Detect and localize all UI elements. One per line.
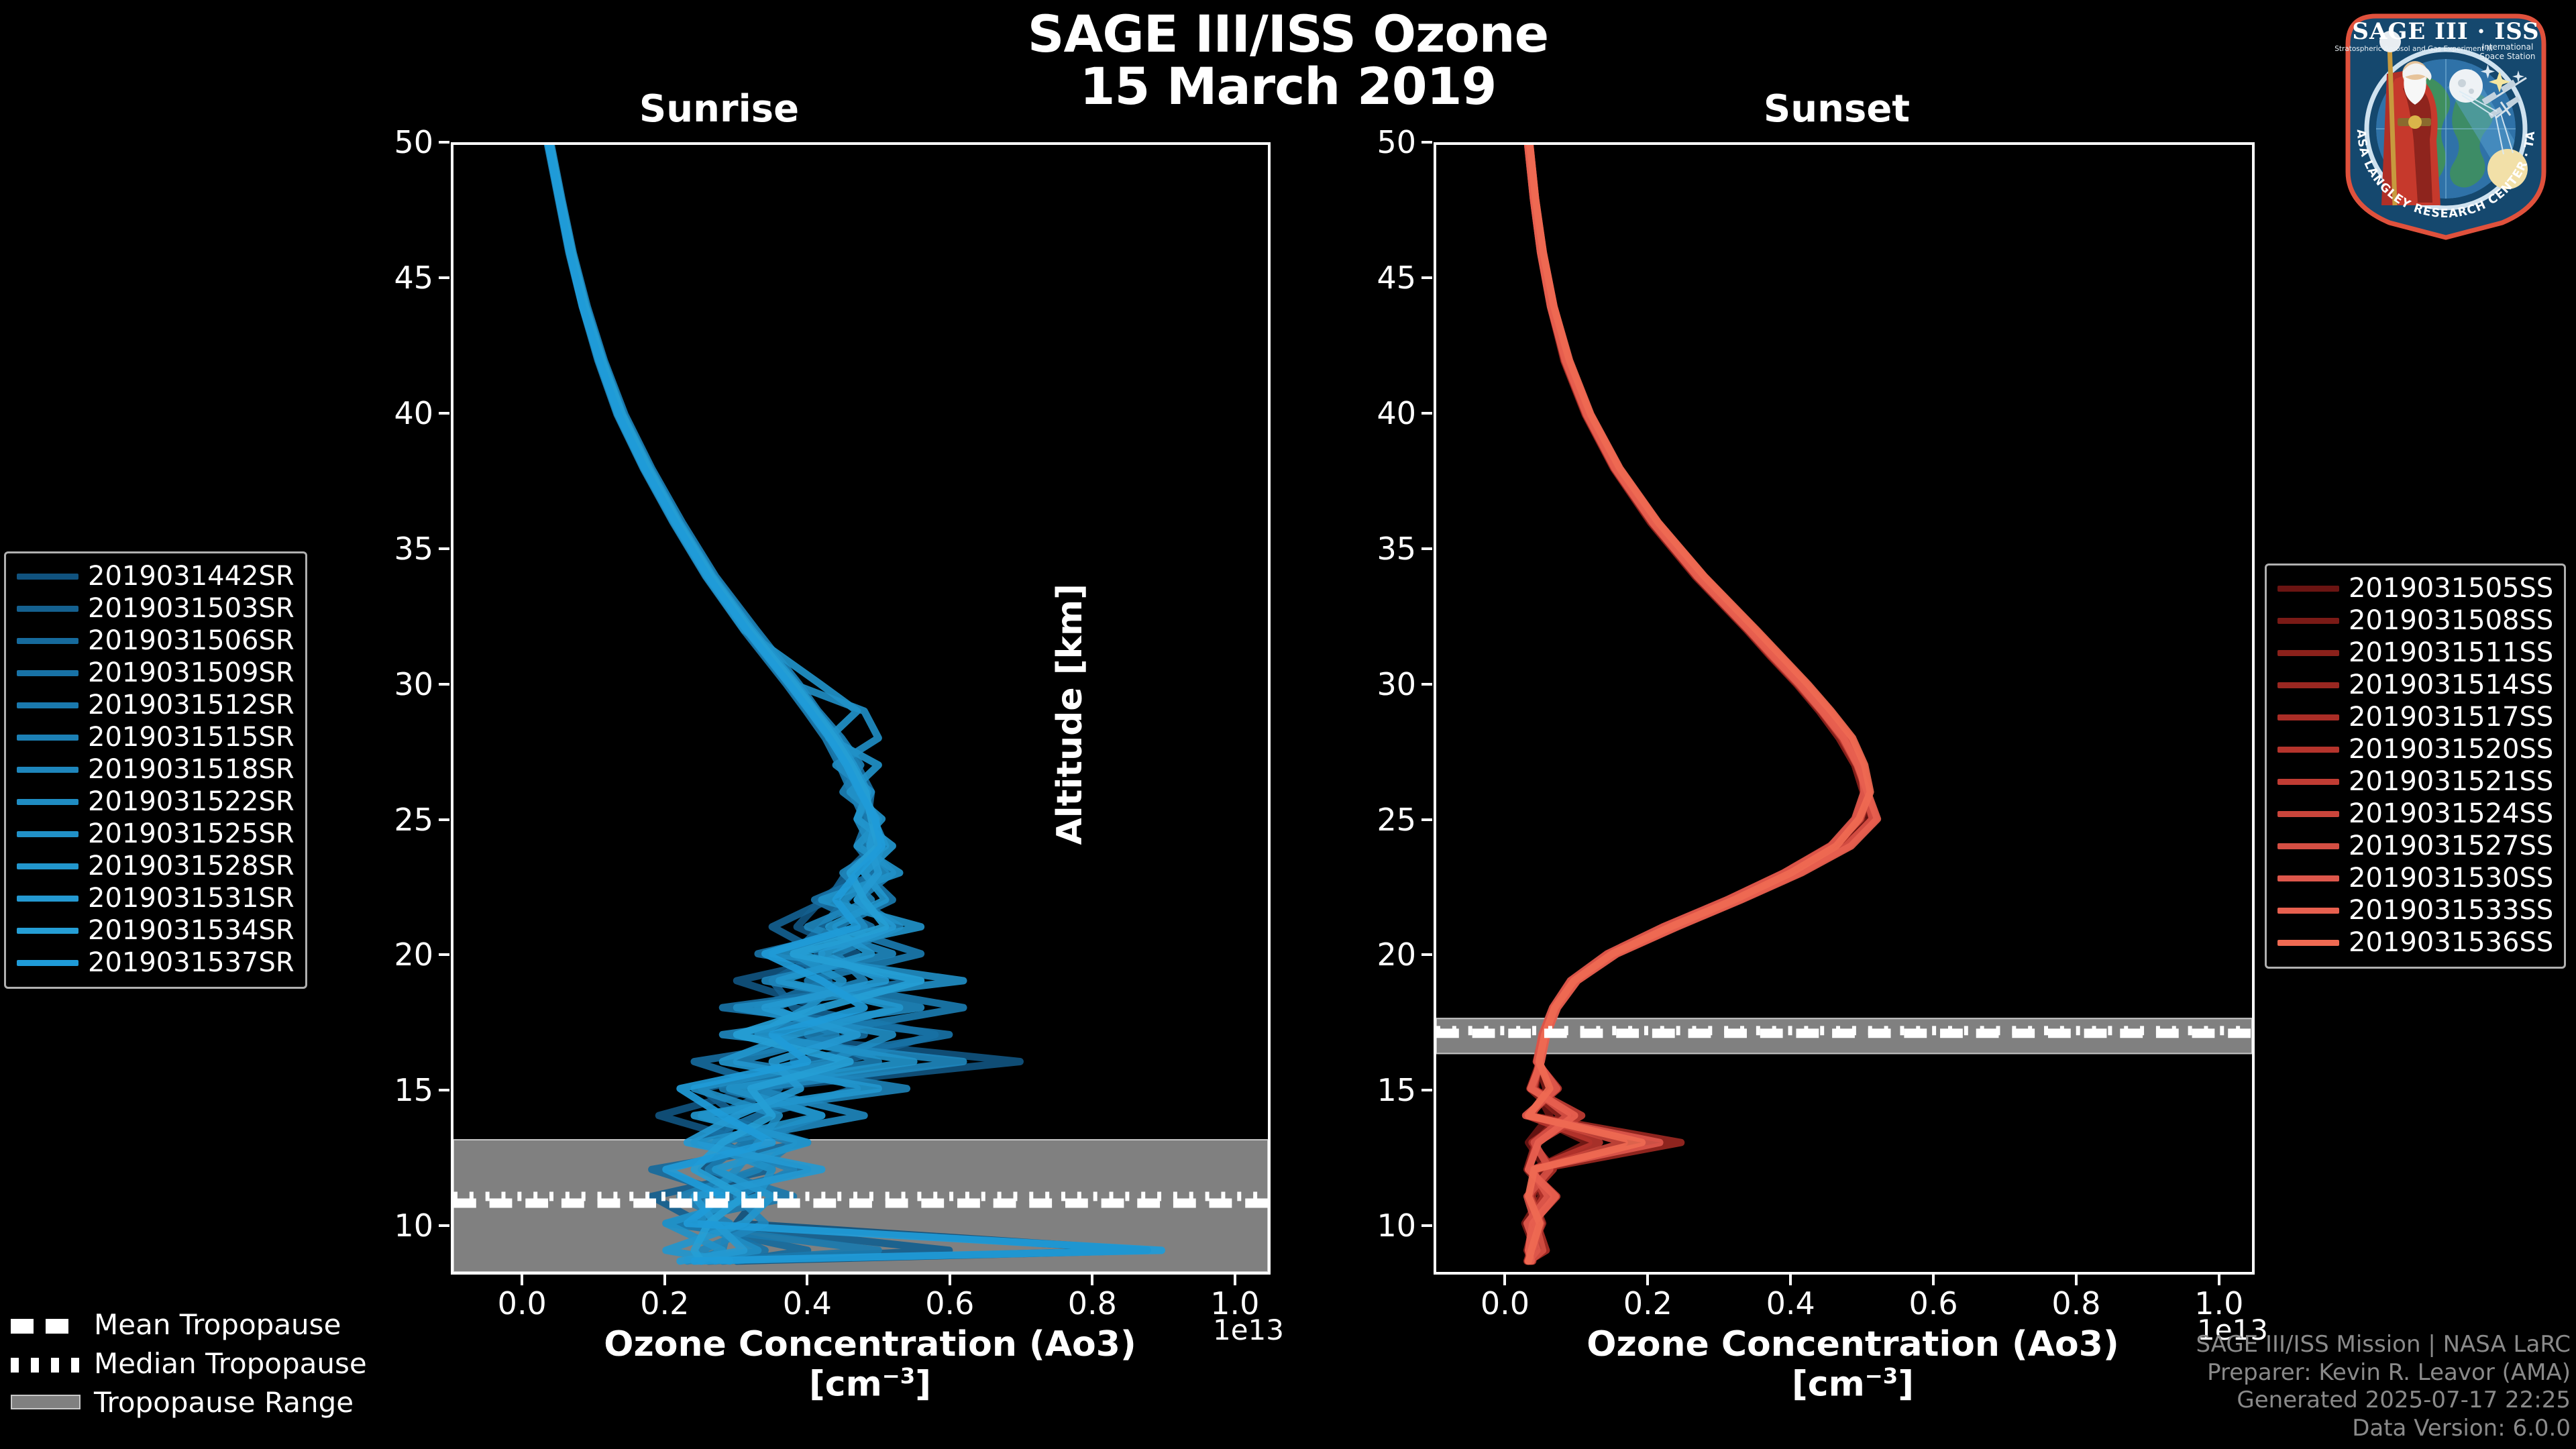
x-tick-mark (2218, 1275, 2220, 1285)
legend-item-label: 2019031517SS (2349, 702, 2553, 733)
tropopause-legend-item[interactable]: Mean Tropopause (11, 1305, 367, 1344)
legend-color-swatch (2277, 811, 2339, 817)
legend-color-swatch (2277, 843, 2339, 849)
x-tick-label: 0.8 (2009, 1285, 2143, 1322)
figure-suptitle: SAGE III/ISS Ozone 15 March 2019 (0, 8, 2576, 112)
x-tick-mark (1091, 1275, 1093, 1285)
y-tick-label: 15 (333, 1072, 433, 1108)
y-axis-label-sunset: Altitude [km] (1050, 584, 1090, 845)
legend-sunrise-profiles[interactable]: 2019031442SR2019031503SR2019031506SR2019… (4, 551, 307, 989)
legend-color-swatch (2277, 586, 2339, 592)
legend-item[interactable]: 2019031530SS (2277, 862, 2553, 894)
legend-item-label: 2019031525SR (88, 818, 294, 849)
x-axis-label-sunrise-line1: Ozone Concentration (Ao3) (451, 1325, 1289, 1364)
x-tick-label: 0.2 (1580, 1285, 1715, 1322)
x-tick-label: 0.6 (1866, 1285, 2000, 1322)
x-tick-mark (1646, 1275, 1649, 1285)
patch-subtitle-right-1: International (2482, 42, 2534, 52)
sage-iii-iss-mission-patch-logo: SAGE III · ISS Stratospheric Aerosol and… (2328, 4, 2564, 240)
legend-item-label: 2019031534SR (88, 915, 294, 946)
legend-color-swatch (17, 670, 78, 676)
y-tick-mark (439, 683, 449, 686)
legend-color-swatch (2277, 682, 2339, 688)
legend-item[interactable]: 2019031517SS (2277, 701, 2553, 733)
y-tick-label: 45 (1316, 260, 1416, 296)
legend-item-label: 2019031530SS (2349, 863, 2553, 894)
legend-item-label: 2019031527SS (2349, 830, 2553, 861)
y-tick-label: 45 (333, 260, 433, 296)
y-tick-mark (439, 953, 449, 956)
subplot-title-sunset: Sunset (1703, 87, 1971, 131)
y-tick-label: 25 (1316, 802, 1416, 838)
legend-item[interactable]: 2019031515SR (17, 721, 294, 753)
legend-item-label: 2019031508SS (2349, 605, 2553, 636)
y-tick-mark (439, 141, 449, 144)
y-tick-mark (439, 547, 449, 550)
legend-item-label: 2019031522SR (88, 786, 294, 817)
y-tick-mark (439, 1224, 449, 1227)
x-tick-mark (663, 1275, 666, 1285)
legend-color-swatch (17, 863, 78, 869)
legend-item-label: 2019031509SR (88, 657, 294, 688)
legend-item-label: 2019031512SR (88, 690, 294, 720)
patch-subtitle-left: Stratospheric Aerosol and Gas Experiment… (2334, 45, 2493, 53)
legend-item-label: 2019031521SS (2349, 766, 2553, 797)
legend-item-label: 2019031528SR (88, 851, 294, 881)
x-axis-label-sunset: Ozone Concentration (Ao3) [cm−3] (1434, 1325, 2272, 1404)
x-axis-label-sunset-line2: [cm−3] (1434, 1364, 2272, 1404)
legend-color-swatch (2277, 875, 2339, 881)
legend-item[interactable]: 2019031506SR (17, 625, 294, 657)
legend-color-swatch (2277, 650, 2339, 656)
legend-item-label: 2019031511SS (2349, 637, 2553, 668)
tropopause-legend-item[interactable]: Median Tropopause (11, 1344, 367, 1383)
x-tick-mark (1234, 1275, 1236, 1285)
legend-color-swatch (17, 928, 78, 934)
plot-area-sunrise[interactable] (451, 142, 1271, 1275)
legend-item[interactable]: 2019031505SS (2277, 572, 2553, 604)
legend-item[interactable]: 2019031524SS (2277, 798, 2553, 830)
x-tick-mark (2075, 1275, 2078, 1285)
legend-item-label: 2019031505SS (2349, 573, 2553, 604)
legend-item-label: 2019031533SS (2349, 895, 2553, 926)
patch-subtitle-right-2: Space Station (2479, 52, 2535, 61)
y-tick-label: 35 (333, 531, 433, 567)
legend-color-swatch (2277, 747, 2339, 753)
legend-color-swatch (17, 799, 78, 805)
legend-tropopause[interactable]: Mean TropopauseMedian TropopauseTropopau… (11, 1305, 367, 1421)
legend-item[interactable]: 2019031518SR (17, 753, 294, 786)
legend-color-swatch (17, 702, 78, 708)
legend-item-label: 2019031442SR (88, 561, 294, 592)
credits-line: Preparer: Kevin R. Leavor (AMA) (2196, 1359, 2571, 1387)
y-tick-mark (1421, 1089, 1432, 1091)
tropopause-legend-key-dashed (11, 1319, 80, 1334)
y-tick-label: 50 (333, 124, 433, 160)
legend-item[interactable]: 2019031508SS (2277, 604, 2553, 637)
legend-item[interactable]: 2019031534SR (17, 914, 294, 947)
x-axis-label-sunset-line1: Ozone Concentration (Ao3) (1434, 1325, 2272, 1364)
y-tick-label: 40 (333, 395, 433, 431)
legend-color-swatch (2277, 618, 2339, 624)
legend-item-label: 2019031518SR (88, 754, 294, 785)
x-tick-mark (806, 1275, 808, 1285)
y-tick-label: 15 (1316, 1072, 1416, 1108)
x-tick-mark (1932, 1275, 1935, 1285)
y-tick-mark (1421, 141, 1432, 144)
legend-item-label: 2019031515SR (88, 722, 294, 753)
legend-item[interactable]: 2019031537SR (17, 947, 294, 979)
y-tick-mark (1421, 276, 1432, 279)
x-axis-label-sunrise-line2: [cm−3] (451, 1364, 1289, 1404)
x-tick-label: 0.4 (740, 1285, 874, 1322)
x-axis-exponent-sunrise: 1e13 (1213, 1313, 1284, 1346)
y-tick-label: 10 (333, 1207, 433, 1244)
y-tick-mark (1421, 818, 1432, 821)
legend-item[interactable]: 2019031511SS (2277, 637, 2553, 669)
x-tick-label: 0.0 (1438, 1285, 1572, 1322)
tropopause-legend-label: Tropopause Range (94, 1386, 354, 1419)
legend-item-label: 2019031536SS (2349, 927, 2553, 958)
tropopause-legend-label: Mean Tropopause (94, 1308, 341, 1341)
legend-color-swatch (17, 574, 78, 580)
legend-item[interactable]: 2019031525SR (17, 818, 294, 850)
legend-color-swatch (2277, 714, 2339, 720)
x-tick-mark (949, 1275, 951, 1285)
y-tick-mark (1421, 1224, 1432, 1227)
legend-item[interactable]: 2019031512SR (17, 689, 294, 721)
y-tick-label: 25 (333, 802, 433, 838)
y-tick-label: 35 (1316, 531, 1416, 567)
y-tick-label: 50 (1316, 124, 1416, 160)
legend-item[interactable]: 2019031520SS (2277, 733, 2553, 765)
legend-item-label: 2019031503SR (88, 593, 294, 624)
legend-color-swatch (2277, 908, 2339, 914)
y-tick-mark (439, 412, 449, 415)
legend-color-swatch (17, 638, 78, 644)
y-tick-mark (1421, 953, 1432, 956)
legend-color-swatch (17, 606, 78, 612)
legend-sunset-profiles[interactable]: 2019031505SS2019031508SS2019031511SS2019… (2265, 563, 2566, 969)
y-tick-label: 20 (333, 936, 433, 973)
tropopause-legend-key-patch (11, 1395, 80, 1409)
legend-color-swatch (17, 896, 78, 902)
plot-area-sunset[interactable] (1434, 142, 2255, 1275)
x-tick-label: 0.4 (1723, 1285, 1858, 1322)
legend-item[interactable]: 2019031514SS (2277, 669, 2553, 701)
y-tick-mark (439, 276, 449, 279)
legend-item-label: 2019031531SR (88, 883, 294, 914)
x-tick-label: 0.6 (883, 1285, 1017, 1322)
legend-item[interactable]: 2019031522SR (17, 786, 294, 818)
y-tick-label: 40 (1316, 395, 1416, 431)
x-axis-label-sunrise: Ozone Concentration (Ao3) [cm−3] (451, 1325, 1289, 1404)
y-tick-mark (439, 1089, 449, 1091)
legend-item[interactable]: 2019031527SS (2277, 830, 2553, 862)
x-tick-label: 0.0 (455, 1285, 589, 1322)
ozone-profiles-sunset (1436, 145, 2252, 1272)
legend-item-label: 2019031537SR (88, 947, 294, 978)
legend-item[interactable]: 2019031503SR (17, 592, 294, 625)
legend-item[interactable]: 2019031442SR (17, 560, 294, 592)
x-tick-mark (521, 1275, 523, 1285)
legend-item[interactable]: 2019031536SS (2277, 926, 2553, 959)
legend-color-swatch (2277, 940, 2339, 946)
patch-title: SAGE III · ISS (2352, 18, 2539, 45)
legend-color-swatch (2277, 779, 2339, 785)
tropopause-legend-key-dotted (11, 1358, 80, 1373)
legend-item-label: 2019031520SS (2349, 734, 2553, 765)
x-tick-label: 0.8 (1025, 1285, 1159, 1322)
y-tick-label: 10 (1316, 1207, 1416, 1244)
subplot-title-sunrise: Sunrise (585, 87, 853, 131)
y-tick-label: 30 (1316, 666, 1416, 702)
legend-color-swatch (17, 735, 78, 741)
y-tick-mark (1421, 412, 1432, 415)
legend-item-label: 2019031524SS (2349, 798, 2553, 829)
credits-line: Data Version: 6.0.0 (2196, 1415, 2571, 1442)
y-tick-mark (1421, 547, 1432, 550)
credits-line: SAGE III/ISS Mission | NASA LaRC (2196, 1331, 2571, 1358)
tropopause-legend-item[interactable]: Tropopause Range (11, 1383, 367, 1421)
legend-item[interactable]: 2019031531SR (17, 882, 294, 914)
credits-block: SAGE III/ISS Mission | NASA LaRCPreparer… (2196, 1331, 2571, 1442)
suptitle-line-2: 15 March 2019 (0, 60, 2576, 113)
x-tick-mark (1503, 1275, 1506, 1285)
legend-item[interactable]: 2019031509SR (17, 657, 294, 689)
legend-color-swatch (17, 960, 78, 966)
legend-item[interactable]: 2019031528SR (17, 850, 294, 882)
credits-line: Generated 2025-07-17 22:25 (2196, 1387, 2571, 1414)
legend-item-label: 2019031514SS (2349, 669, 2553, 700)
y-tick-mark (1421, 683, 1432, 686)
ozone-profiles-sunrise (453, 145, 1268, 1272)
tropopause-legend-label: Median Tropopause (94, 1347, 367, 1380)
suptitle-line-1: SAGE III/ISS Ozone (1028, 4, 1548, 64)
legend-color-swatch (17, 831, 78, 837)
legend-color-swatch (17, 767, 78, 773)
legend-item[interactable]: 2019031521SS (2277, 765, 2553, 798)
y-tick-label: 30 (333, 666, 433, 702)
legend-item-label: 2019031506SR (88, 625, 294, 656)
y-tick-mark (439, 818, 449, 821)
y-tick-label: 20 (1316, 936, 1416, 973)
legend-item[interactable]: 2019031533SS (2277, 894, 2553, 926)
x-tick-label: 0.2 (598, 1285, 732, 1322)
x-tick-mark (1789, 1275, 1792, 1285)
